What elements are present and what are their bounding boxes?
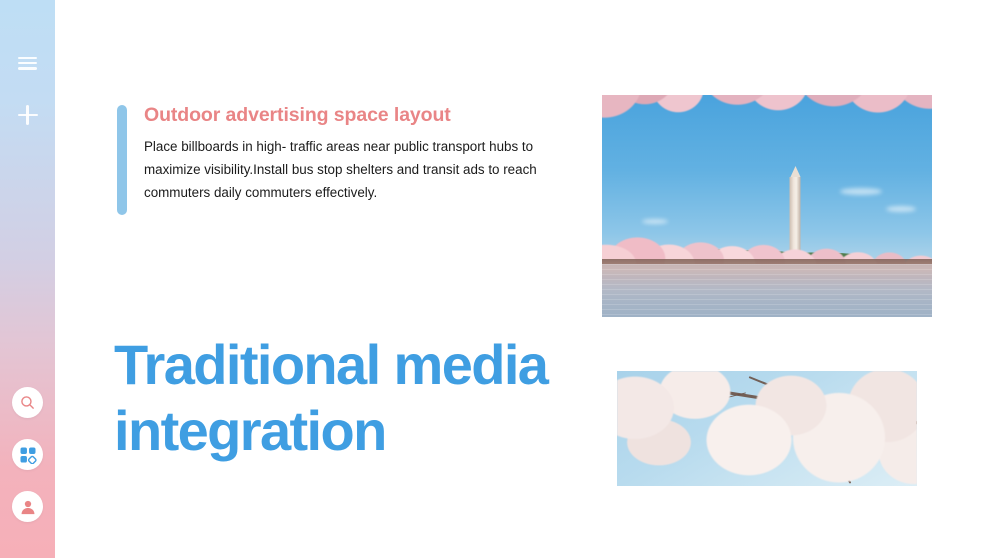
sidebar bbox=[0, 0, 55, 558]
photo-tidal-basin-water bbox=[602, 264, 932, 317]
hamburger-menu-glyph bbox=[18, 57, 37, 70]
callout-accent-bar bbox=[117, 105, 127, 215]
plus-glyph bbox=[18, 105, 38, 125]
washington-monument-cherry-blossom-photo bbox=[602, 95, 932, 317]
search-icon[interactable] bbox=[12, 387, 43, 418]
photo-blossom-clusters bbox=[617, 371, 917, 486]
callout-paragraph: Place billboards in high- traffic areas … bbox=[144, 136, 569, 204]
plus-icon[interactable] bbox=[0, 103, 55, 127]
presentation-slide: Outdoor advertising space layout Place b… bbox=[0, 0, 993, 558]
callout-title: Outdoor advertising space layout bbox=[144, 104, 577, 127]
user-avatar-icon[interactable] bbox=[12, 491, 43, 522]
callout-block: Outdoor advertising space layout Place b… bbox=[117, 104, 577, 204]
user-avatar-glyph bbox=[19, 498, 37, 516]
photo-overhanging-branches bbox=[602, 95, 932, 157]
page-title: Traditional media integration bbox=[114, 332, 584, 464]
cherry-blossom-branches-photo bbox=[617, 371, 917, 486]
hamburger-menu-icon[interactable] bbox=[0, 52, 55, 74]
search-glyph bbox=[19, 394, 36, 411]
apps-grid-icon[interactable] bbox=[12, 439, 43, 470]
apps-grid-glyph bbox=[19, 446, 37, 464]
callout-body: Outdoor advertising space layout Place b… bbox=[144, 104, 577, 204]
